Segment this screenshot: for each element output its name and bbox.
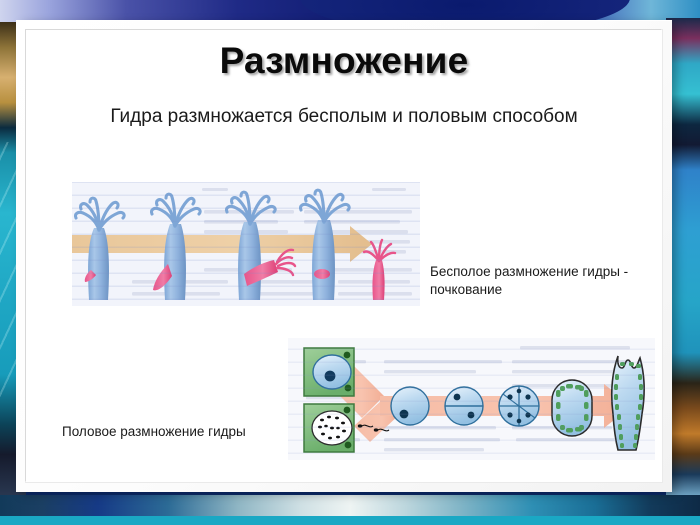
figure-asexual-budding — [72, 182, 420, 306]
slide-content-area: Размножение Гидра размножается бесполым … — [26, 30, 662, 482]
background-bottom-strip — [0, 495, 700, 525]
slide-subtitle: Гидра размножается бесполым и половым сп… — [26, 106, 662, 128]
scan-texture-overlay — [72, 182, 420, 306]
caption-asexual: Бесполое размножение гидры - почкование — [430, 263, 640, 299]
slide-bevel: Размножение Гидра размножается бесполым … — [26, 30, 662, 482]
slide-title: Размножение — [26, 40, 662, 82]
caption-sexual: Половое размножение гидры — [62, 423, 272, 441]
scan-texture-overlay — [288, 338, 655, 460]
slide-screenshot: Размножение Гидра размножается бесполым … — [0, 0, 700, 525]
background-bottom-teal-band — [0, 516, 700, 525]
slide-frame: Размножение Гидра размножается бесполым … — [16, 20, 672, 492]
figure-sexual-reproduction — [288, 338, 655, 460]
